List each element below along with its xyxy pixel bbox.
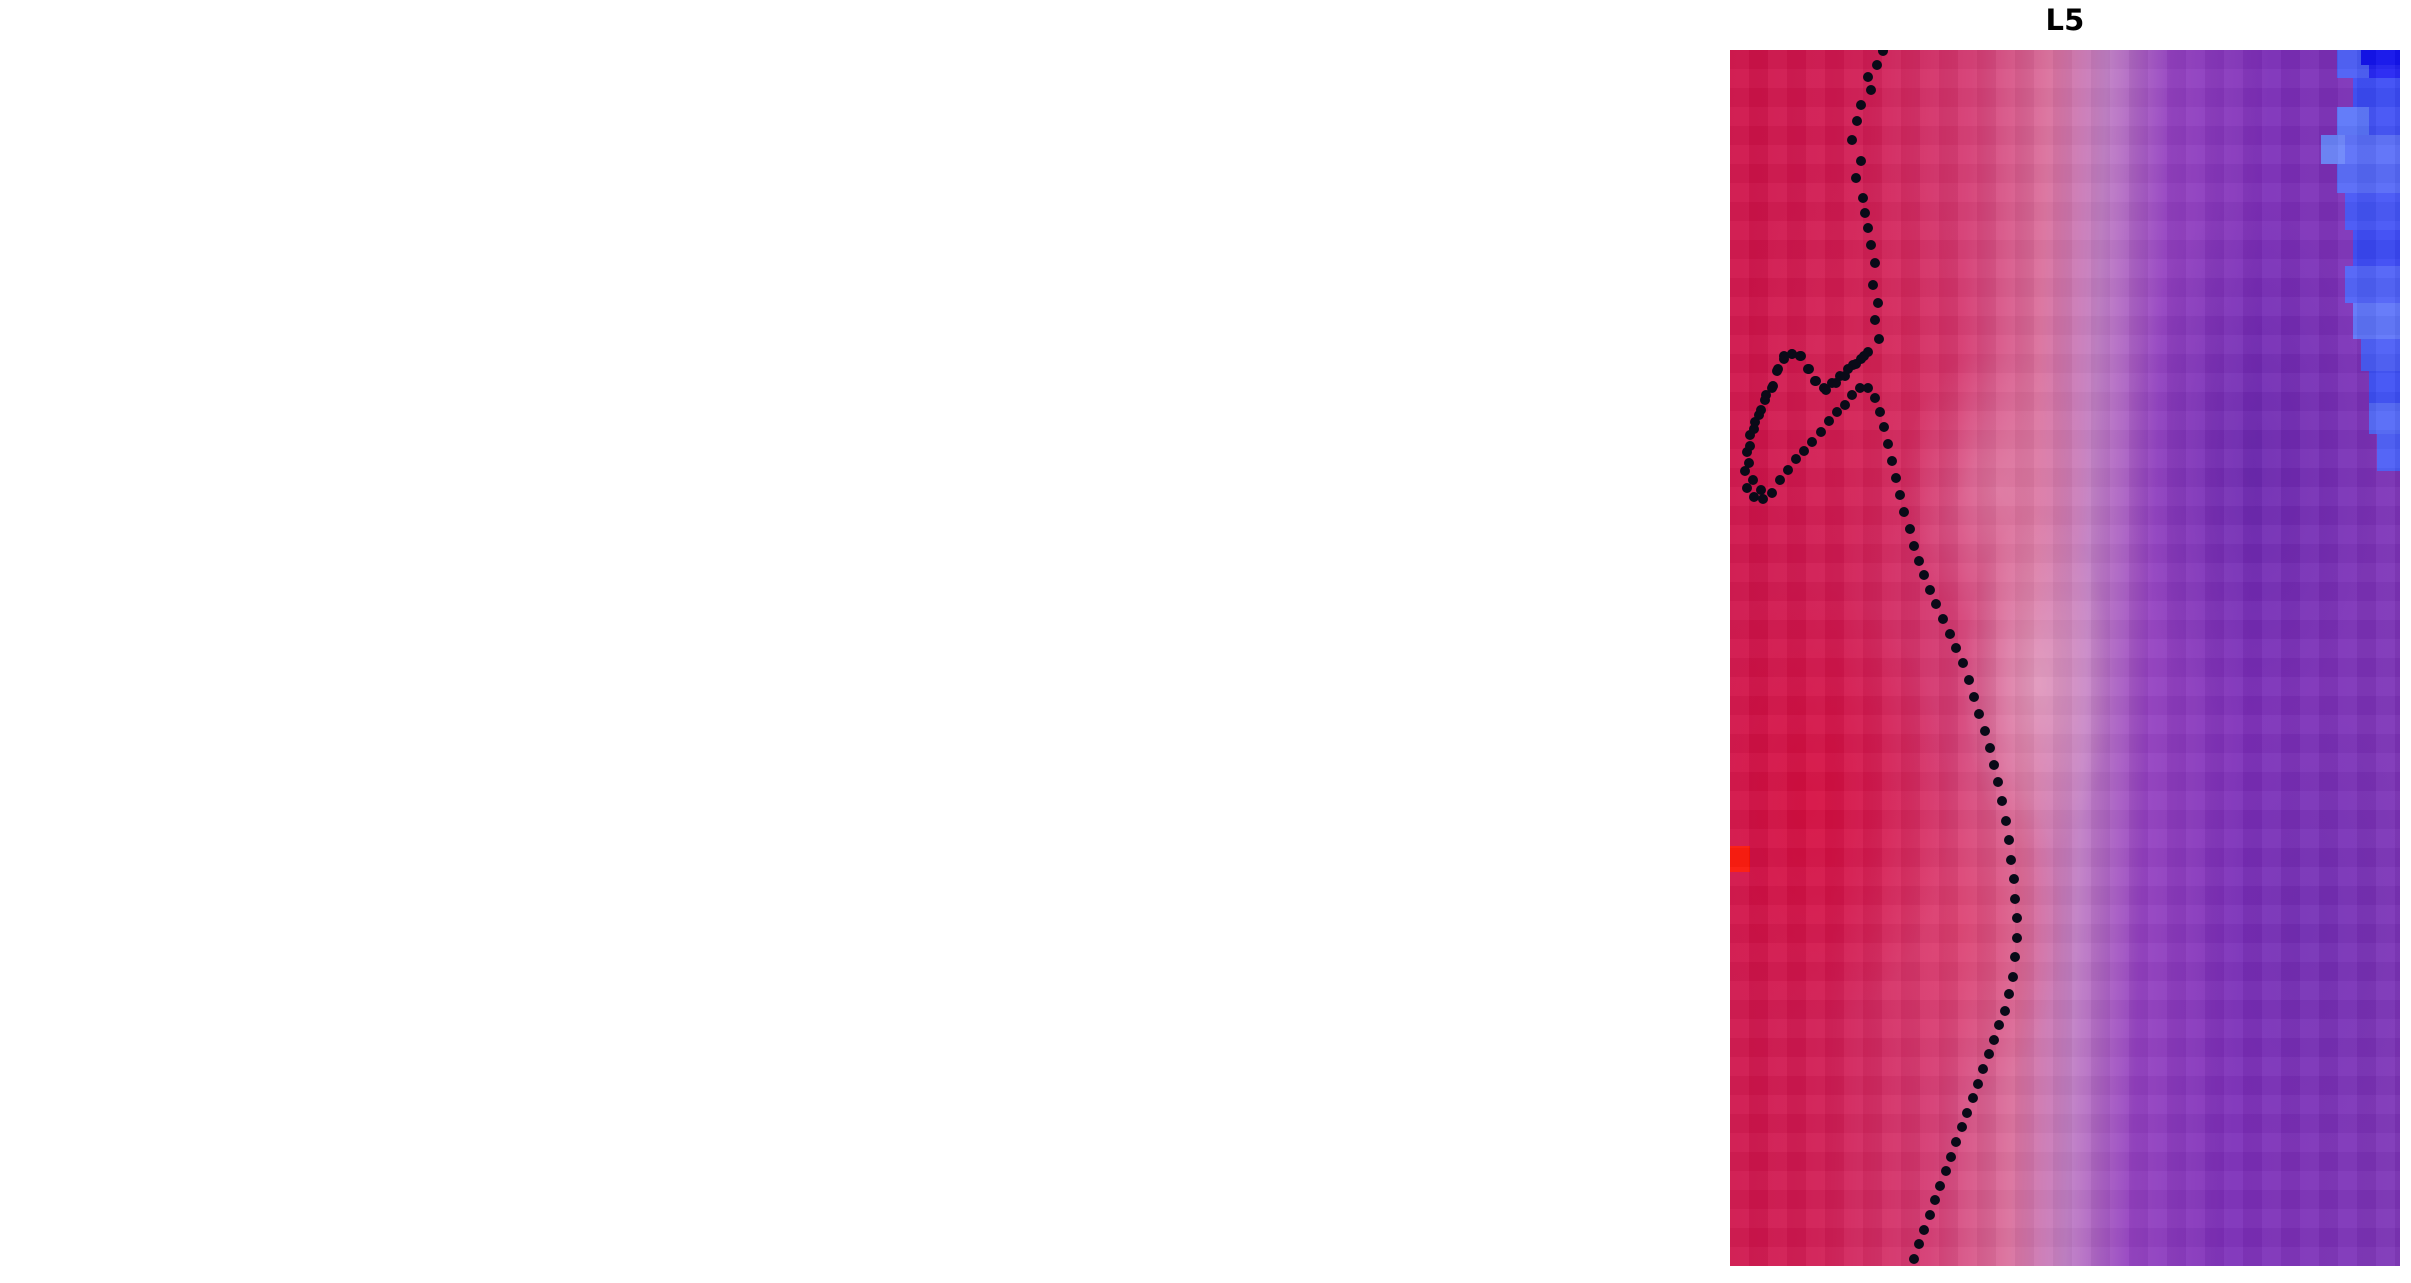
shoreline-dot [1859, 351, 1869, 361]
shoreline-dot [1868, 280, 1878, 290]
shoreline-dot [1969, 692, 1979, 702]
shoreline-dot [1863, 383, 1873, 393]
shoreline-dot [1946, 1152, 1956, 1162]
shoreline-dot [1866, 240, 1876, 250]
shoreline-dot [1938, 614, 1948, 624]
shoreline-dot [1858, 193, 1868, 203]
shoreline-dot [1989, 1035, 1999, 1045]
shoreline-dot [1914, 1239, 1924, 1249]
panel-l5: L5 [0, 0, 2411, 1283]
shoreline-dot [1760, 395, 1770, 405]
shoreline-dot [2004, 989, 2014, 999]
shoreline-dot [1878, 50, 1888, 56]
shoreline-dot [1843, 364, 1853, 374]
shoreline-dot [2010, 894, 2020, 904]
shoreline-dot [1835, 371, 1845, 381]
shoreline-dot [1803, 364, 1813, 374]
shoreline-dot [1993, 777, 2003, 787]
shoreline-dot [1811, 376, 1821, 386]
shoreline-dot [1744, 458, 1754, 468]
shoreline-dot [1935, 1181, 1945, 1191]
shoreline-dot [1891, 473, 1901, 483]
shoreline-dot [1984, 1049, 1994, 1059]
shoreline-dot [1978, 1064, 1988, 1074]
shoreline-dot [1767, 383, 1777, 393]
shoreline-dot [1879, 422, 1889, 432]
shoreline-dot [1767, 488, 1777, 498]
shoreline-dot [1945, 629, 1955, 639]
shoreline-dot [1856, 100, 1866, 110]
shoreline-dot [1749, 424, 1759, 434]
l5-image [1730, 50, 2400, 1266]
shoreline-dot [1962, 1108, 1972, 1118]
shoreline-dot [1919, 1225, 1929, 1235]
shoreline-dot [1851, 173, 1861, 183]
shoreline-dot [1816, 427, 1826, 437]
shoreline-dot [1989, 760, 1999, 770]
shoreline-dot [1852, 116, 1862, 126]
shoreline-dot [1874, 334, 1884, 344]
shoreline-dot [1748, 475, 1758, 485]
shoreline-dot [1909, 541, 1919, 551]
panel-l5-title: L5 [1730, 6, 2400, 35]
shoreline-dot [1875, 407, 1885, 417]
shoreline-dot [1819, 383, 1829, 393]
shoreline-dot [1925, 1210, 1935, 1220]
shoreline-dot [1840, 400, 1850, 410]
shoreline-dot [1860, 208, 1870, 218]
shoreline-dot [1856, 156, 1866, 166]
shoreline-dot [1791, 454, 1801, 464]
figure-root: sar1088 1995-01-06-09-13-15 L5 [0, 0, 2411, 1283]
shoreline-dot [1883, 439, 1893, 449]
shoreline-dot [2012, 913, 2022, 923]
shoreline-dot [1973, 1079, 1983, 1089]
shoreline-dot [1974, 709, 1984, 719]
shoreline-dot [1807, 437, 1817, 447]
shoreline-dot [1745, 441, 1755, 451]
shoreline-dot [1873, 298, 1883, 308]
shoreline-dot [1997, 796, 2007, 806]
shoreline-dot [2012, 933, 2022, 943]
l5-shoreline-overlay [1730, 50, 2400, 1266]
shoreline-dot [1931, 599, 1941, 609]
shoreline-dot [1968, 1093, 1978, 1103]
shoreline-dot [1863, 223, 1873, 233]
shoreline-dot [1772, 366, 1782, 376]
shoreline-dot [1870, 315, 1880, 325]
shoreline-dot [1887, 456, 1897, 466]
shoreline-dot [1958, 658, 1968, 668]
shoreline-dot [1919, 570, 1929, 580]
shoreline-dot [1799, 446, 1809, 456]
shoreline-dot [1870, 393, 1880, 403]
shoreline-dot [1980, 726, 1990, 736]
shoreline-dot [1930, 1195, 1940, 1205]
shoreline-dot [1775, 475, 1785, 485]
shoreline-dot [1832, 407, 1842, 417]
shoreline-dot [1957, 1122, 1967, 1132]
shoreline-dot [1872, 60, 1882, 70]
shoreline-dot [1895, 490, 1905, 500]
shoreline-dot [2009, 874, 2019, 884]
shoreline-dot [1863, 72, 1873, 82]
shoreline-dot [1909, 1254, 1919, 1264]
shoreline-dot [1941, 1166, 1951, 1176]
shoreline-dot [1824, 416, 1834, 426]
shoreline-dot [1756, 485, 1766, 495]
shoreline-dot [1866, 85, 1876, 95]
shoreline-dot [2001, 816, 2011, 826]
shoreline-dot [1905, 524, 1915, 534]
shoreline-dot [1899, 507, 1909, 517]
shoreline-dot [2000, 1006, 2010, 1016]
shoreline-dot [1964, 675, 1974, 685]
shoreline-dot [1847, 135, 1857, 145]
shoreline-dot [1870, 258, 1880, 268]
shoreline-dot [1985, 743, 1995, 753]
shoreline-dot [1758, 494, 1768, 504]
shoreline-dot [1779, 354, 1789, 364]
shoreline-dot [1914, 556, 1924, 566]
shoreline-dot [1783, 465, 1793, 475]
shoreline-dot [1951, 643, 1961, 653]
shoreline-dot [1847, 390, 1857, 400]
shoreline-dot [2004, 835, 2014, 845]
shoreline-dot [1754, 410, 1764, 420]
shoreline-dot [1925, 585, 1935, 595]
shoreline-dot [1951, 1137, 1961, 1147]
shoreline-dot [2010, 952, 2020, 962]
shoreline-dot [2008, 972, 2018, 982]
shoreline-dot [2006, 855, 2016, 865]
shoreline-dot [1994, 1020, 2004, 1030]
